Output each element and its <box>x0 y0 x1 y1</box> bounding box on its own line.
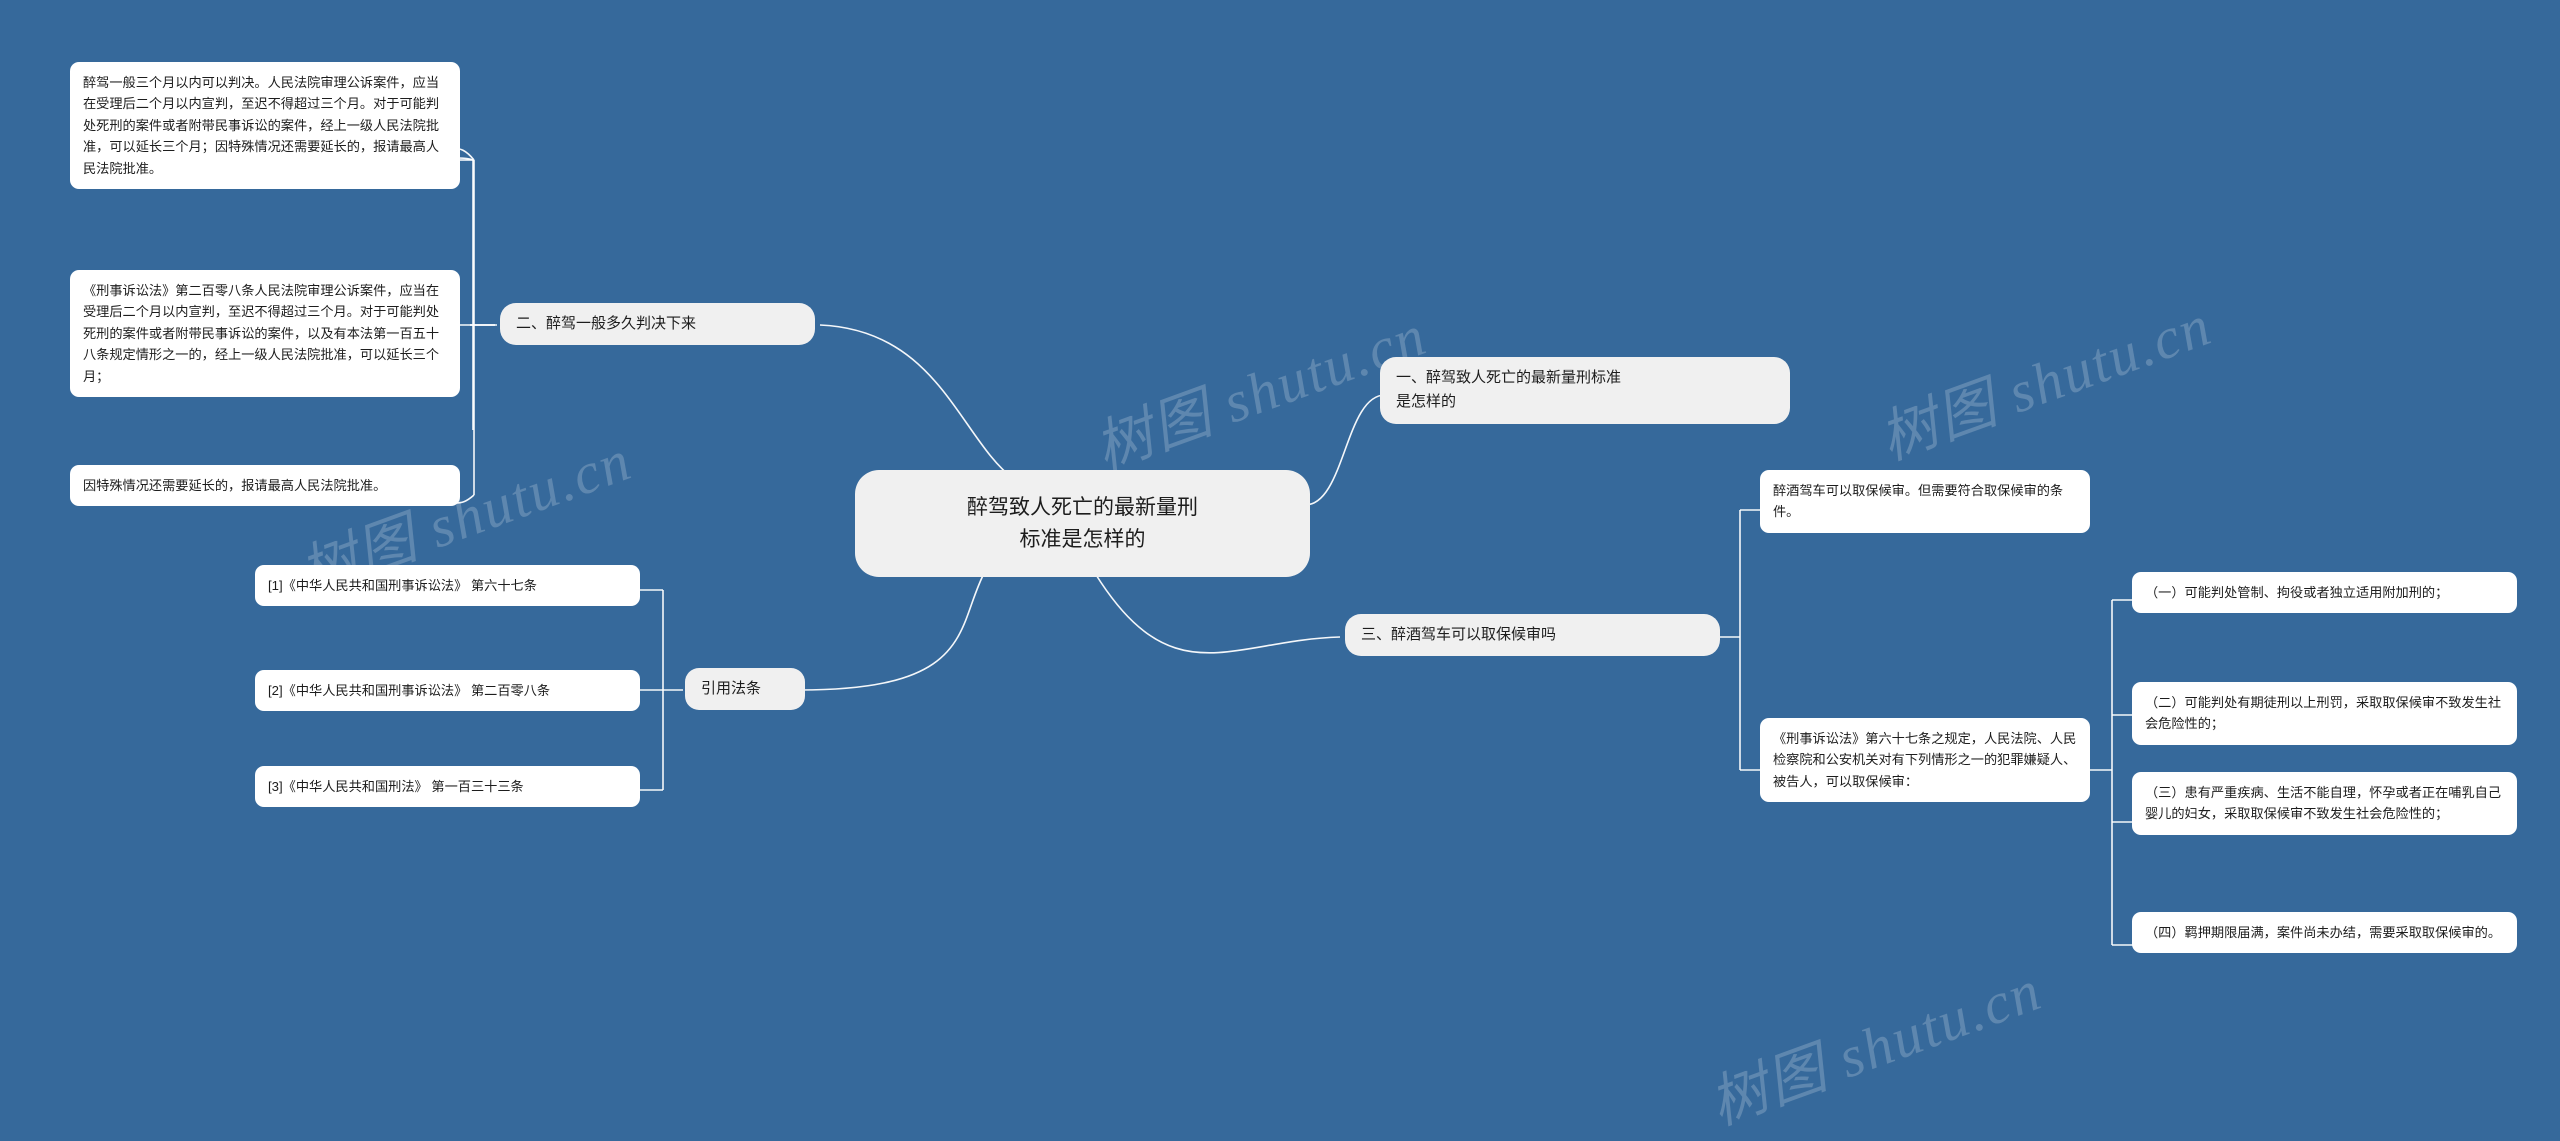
branch-node-citations[interactable]: 引用法条 <box>685 668 805 710</box>
branch-node-1[interactable]: 一、醉驾致人死亡的最新量刑标准 是怎样的 <box>1380 357 1790 424</box>
leaf-node[interactable]: 《刑事诉讼法》第六十七条之规定，人民法院、人民检察院和公安机关对有下列情形之一的… <box>1760 718 2090 802</box>
leaf-node[interactable]: 醉酒驾车可以取保候审。但需要符合取保候审的条件。 <box>1760 470 2090 533</box>
watermark: 树图 shutu.cn <box>1696 943 2051 1141</box>
condition-item[interactable]: （二）可能判处有期徒刑以上刑罚，采取取保候审不致发生社会危险性的； <box>2132 682 2517 745</box>
citation-item[interactable]: [1]《中华人民共和国刑事诉讼法》 第六十七条 <box>255 565 640 606</box>
condition-item[interactable]: （四）羁押期限届满，案件尚未办结，需要采取取保候审的。 <box>2132 912 2517 953</box>
citation-item[interactable]: [2]《中华人民共和国刑事诉讼法》 第二百零八条 <box>255 670 640 711</box>
leaf-node[interactable]: 《刑事诉讼法》第二百零八条人民法院审理公诉案件，应当在受理后二个月以内宣判，至迟… <box>70 270 460 397</box>
root-node[interactable]: 醉驾致人死亡的最新量刑 标准是怎样的 <box>855 470 1310 577</box>
leaf-node[interactable]: 醉驾一般三个月以内可以判决。人民法院审理公诉案件，应当在受理后二个月以内宣判，至… <box>70 62 460 189</box>
watermark: 树图 shutu.cn <box>1866 278 2221 476</box>
branch-node-2[interactable]: 二、醉驾一般多久判决下来 <box>500 303 815 345</box>
condition-item[interactable]: （一）可能判处管制、拘役或者独立适用附加刑的； <box>2132 572 2517 613</box>
branch-node-3[interactable]: 三、醉酒驾车可以取保候审吗 <box>1345 614 1720 656</box>
citation-item[interactable]: [3]《中华人民共和国刑法》 第一百三十三条 <box>255 766 640 807</box>
mindmap-canvas: 树图 shutu.cn 树图 shutu.cn 树图 shutu.cn 树图 s… <box>0 0 2560 1033</box>
condition-item[interactable]: （三）患有严重疾病、生活不能自理，怀孕或者正在哺乳自己婴儿的妇女，采取取保候审不… <box>2132 772 2517 835</box>
leaf-node[interactable]: 因特殊情况还需要延长的，报请最高人民法院批准。 <box>70 465 460 506</box>
